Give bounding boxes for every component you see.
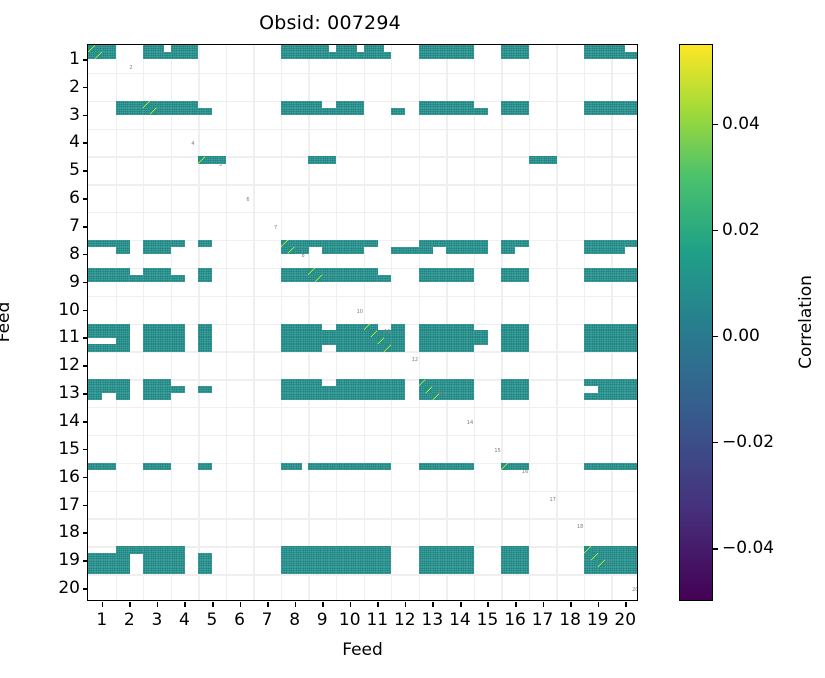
heatmap-cell xyxy=(618,247,625,254)
heatmap-cell xyxy=(205,344,212,351)
heatmap-cell xyxy=(205,463,212,470)
heatmap-cell xyxy=(205,567,212,574)
heatmap-cell xyxy=(467,393,474,400)
heatmap-cell xyxy=(178,240,185,247)
heatmap-cell xyxy=(178,386,185,393)
heatmap-cell xyxy=(205,108,212,115)
heatmap-cell xyxy=(178,567,185,574)
y-axis-tick-label: 6 xyxy=(69,188,80,208)
colorbar-tick-label: 0.00 xyxy=(722,326,760,346)
heatmap-cell xyxy=(384,463,391,470)
heatmap-cell xyxy=(164,393,171,400)
heatmap-cell xyxy=(384,52,391,59)
x-axis-tick-label: 4 xyxy=(179,610,190,630)
x-axis-tick xyxy=(157,602,159,607)
x-axis-tick-label: 18 xyxy=(559,610,581,630)
heatmap-cell xyxy=(522,240,529,247)
x-axis-tick-label: 6 xyxy=(234,610,245,630)
feed-index-annotation: 4 xyxy=(191,142,194,147)
colorbar-tick xyxy=(713,230,718,232)
heatmap-cell xyxy=(164,463,171,470)
feed-index-annotation: 6 xyxy=(246,198,249,203)
y-axis-tick-label: 1 xyxy=(69,49,80,69)
heatmap-cell xyxy=(481,108,488,115)
heatmap-cell xyxy=(522,344,529,351)
x-axis-tick-label: 7 xyxy=(262,610,273,630)
x-axis-label: Feed xyxy=(87,640,638,660)
y-axis-tick-label: 8 xyxy=(69,244,80,264)
heatmap-cell xyxy=(205,275,212,282)
x-axis-tick xyxy=(515,602,517,607)
heatmap-cell xyxy=(481,247,488,254)
feed-index-annotation: 17 xyxy=(549,498,555,503)
x-axis-tick-label: 5 xyxy=(207,610,218,630)
y-axis-tick-label: 13 xyxy=(58,383,80,403)
x-axis-tick-label: 10 xyxy=(339,610,361,630)
figure-title: Obsid: 007294 xyxy=(0,12,660,34)
x-axis-tick-label: 3 xyxy=(151,610,162,630)
y-axis-tick xyxy=(83,532,88,534)
feed-index-annotation: 16 xyxy=(522,470,528,475)
colorbar-tick xyxy=(713,124,718,126)
heatmap-cell xyxy=(522,275,529,282)
x-axis-tick xyxy=(487,602,489,607)
feed-index-annotation: 10 xyxy=(357,310,363,315)
colorbar-tick xyxy=(713,336,718,338)
feed-index-annotation: 14 xyxy=(467,421,473,426)
feed-index-annotation: 3 xyxy=(164,108,167,113)
x-axis-tick-label: 20 xyxy=(614,610,636,630)
x-axis-tick xyxy=(460,602,462,607)
heatmap-cell xyxy=(632,275,637,282)
heatmap-cell xyxy=(315,344,322,351)
y-axis-tick-label: 9 xyxy=(69,272,80,292)
x-axis-tick-label: 13 xyxy=(422,610,444,630)
heatmap-cell xyxy=(398,393,405,400)
y-axis-tick xyxy=(83,560,88,562)
heatmap-cell xyxy=(122,393,129,400)
x-axis-tick xyxy=(267,602,269,607)
y-axis-tick xyxy=(83,170,88,172)
heatmap-cell xyxy=(384,567,391,574)
feed-index-annotation: 1 xyxy=(102,45,105,50)
correlation-matrix-figure: Obsid: 007294 Feed Feed 1234567891011121… xyxy=(0,0,825,678)
heatmap-cell xyxy=(467,567,474,574)
colorbar-tick xyxy=(713,548,718,550)
feed-index-annotation: 20 xyxy=(632,588,637,593)
y-axis-tick-label: 14 xyxy=(58,411,80,431)
y-axis-tick-label: 10 xyxy=(58,300,80,320)
y-axis-label: Feed xyxy=(0,302,14,343)
x-axis-tick xyxy=(295,602,297,607)
heatmap-cell xyxy=(164,247,171,254)
x-axis-tick xyxy=(184,602,186,607)
x-axis-tick-label: 11 xyxy=(366,610,388,630)
y-axis-tick-label: 4 xyxy=(69,132,80,152)
heatmap-cell xyxy=(205,240,212,247)
y-axis-tick xyxy=(83,588,88,590)
x-axis-tick-label: 1 xyxy=(96,610,107,630)
heatmap-cell xyxy=(122,247,129,254)
x-axis-tick xyxy=(240,602,242,607)
feed-index-annotation: 19 xyxy=(605,560,611,565)
y-axis-tick-label: 2 xyxy=(69,77,80,97)
y-axis-tick xyxy=(83,505,88,507)
x-axis-tick-label: 19 xyxy=(587,610,609,630)
y-axis-tick-label: 18 xyxy=(58,522,80,542)
heatmap-cell xyxy=(357,247,364,254)
y-axis-tick xyxy=(83,59,88,61)
x-axis-tick-label: 15 xyxy=(477,610,499,630)
x-axis-tick xyxy=(350,602,352,607)
colorbar-gradient[interactable] xyxy=(679,44,713,601)
heatmap-cell xyxy=(398,108,405,115)
feed-index-annotation: 9 xyxy=(329,275,332,280)
heatmap-cells: 1234567891011121314151617181920 xyxy=(88,45,637,600)
x-axis-tick-label: 14 xyxy=(449,610,471,630)
heatmap-cell xyxy=(522,393,529,400)
heatmap-cell xyxy=(398,344,405,351)
x-axis-tick xyxy=(543,602,545,607)
heatmap-cell xyxy=(122,567,129,574)
y-axis-tick xyxy=(83,254,88,256)
y-axis-tick xyxy=(83,226,88,228)
heatmap-cell xyxy=(467,275,474,282)
heatmap-cell xyxy=(425,247,432,254)
x-axis-tick-label: 17 xyxy=(532,610,554,630)
heatmap-cell xyxy=(295,463,302,470)
heatmap-cell xyxy=(205,386,212,393)
feed-index-annotation: 15 xyxy=(494,449,500,454)
x-axis-tick xyxy=(129,602,131,607)
y-axis-tick-label: 7 xyxy=(69,216,80,236)
y-axis-tick-label: 20 xyxy=(58,578,80,598)
heatmap-cell xyxy=(467,52,474,59)
colorbar-tick-label: 0.04 xyxy=(722,114,760,134)
heatmap-cell xyxy=(109,463,116,470)
x-axis-tick-label: 16 xyxy=(504,610,526,630)
x-axis-tick-label: 12 xyxy=(394,610,416,630)
feed-index-annotation: 12 xyxy=(412,358,418,363)
heatmap-cell xyxy=(329,156,336,163)
y-axis-tick xyxy=(83,87,88,89)
heatmap-axes[interactable]: 1234567891011121314151617181920 12345678… xyxy=(87,44,638,601)
y-axis-tick-label: 12 xyxy=(58,355,80,375)
y-axis-tick-label: 15 xyxy=(58,439,80,459)
heatmap-cell xyxy=(632,567,637,574)
y-axis-tick-label: 3 xyxy=(69,105,80,125)
heatmap-cell xyxy=(632,52,637,59)
heatmap-cell xyxy=(178,344,185,351)
x-axis-tick xyxy=(102,602,104,607)
x-axis-tick xyxy=(432,602,434,607)
heatmap-cell xyxy=(549,156,556,163)
heatmap-cell xyxy=(370,240,377,247)
y-axis-tick xyxy=(83,337,88,339)
heatmap-cell xyxy=(522,567,529,574)
heatmap-cell xyxy=(467,463,474,470)
heatmap-cell xyxy=(384,275,391,282)
heatmap-cell xyxy=(95,393,102,400)
x-axis-tick-label: 8 xyxy=(289,610,300,630)
y-axis-tick-label: 16 xyxy=(58,467,80,487)
y-axis-tick xyxy=(83,282,88,284)
heatmap-cell xyxy=(481,337,488,344)
x-axis-tick xyxy=(405,602,407,607)
y-axis-tick xyxy=(83,115,88,117)
y-axis-tick xyxy=(83,393,88,395)
feed-index-annotation: 18 xyxy=(577,525,583,530)
feed-index-annotation: 7 xyxy=(274,226,277,231)
colorbar-tick xyxy=(713,442,718,444)
feed-index-annotation: 13 xyxy=(439,393,445,398)
heatmap-cell xyxy=(467,344,474,351)
feed-index-annotation: 5 xyxy=(219,163,222,168)
y-axis-tick xyxy=(83,421,88,423)
heatmap-cell xyxy=(109,52,116,59)
x-axis-tick xyxy=(625,602,627,607)
y-axis-tick-label: 5 xyxy=(69,160,80,180)
colorbar-tick-label: −0.02 xyxy=(722,432,774,452)
y-axis-tick-label: 17 xyxy=(58,495,80,515)
y-axis-tick xyxy=(83,310,88,312)
x-axis-tick xyxy=(322,602,324,607)
heatmap-cell xyxy=(522,52,529,59)
heatmap-cell xyxy=(508,247,515,254)
heatmap-cell xyxy=(178,275,185,282)
heatmap-cell xyxy=(122,344,129,351)
heatmap-cell xyxy=(632,344,637,351)
colorbar-tick-label: 0.02 xyxy=(722,220,760,240)
y-axis-tick xyxy=(83,477,88,479)
heatmap-cell xyxy=(357,108,364,115)
feed-index-annotation: 2 xyxy=(129,66,132,71)
y-axis-tick xyxy=(83,449,88,451)
y-axis-tick-label: 11 xyxy=(58,327,80,347)
y-axis-tick xyxy=(83,198,88,200)
feed-index-annotation: 11 xyxy=(384,330,390,335)
y-axis-tick xyxy=(83,142,88,144)
heatmap-cell xyxy=(632,393,637,400)
colorbar-label: Correlation xyxy=(796,275,816,369)
feed-index-annotation: 8 xyxy=(302,254,305,259)
heatmap-cell xyxy=(632,463,637,470)
heatmap-cell xyxy=(632,108,637,115)
colorbar-tick-label: −0.04 xyxy=(722,538,774,558)
x-axis-tick xyxy=(212,602,214,607)
heatmap-cell xyxy=(632,240,637,247)
heatmap-cell xyxy=(191,52,198,59)
x-axis-tick xyxy=(377,602,379,607)
x-axis-tick-label: 9 xyxy=(317,610,328,630)
x-axis-tick xyxy=(570,602,572,607)
x-axis-tick xyxy=(598,602,600,607)
y-axis-tick xyxy=(83,365,88,367)
heatmap-cell xyxy=(522,108,529,115)
x-axis-tick-label: 2 xyxy=(124,610,135,630)
y-axis-tick-label: 19 xyxy=(58,550,80,570)
